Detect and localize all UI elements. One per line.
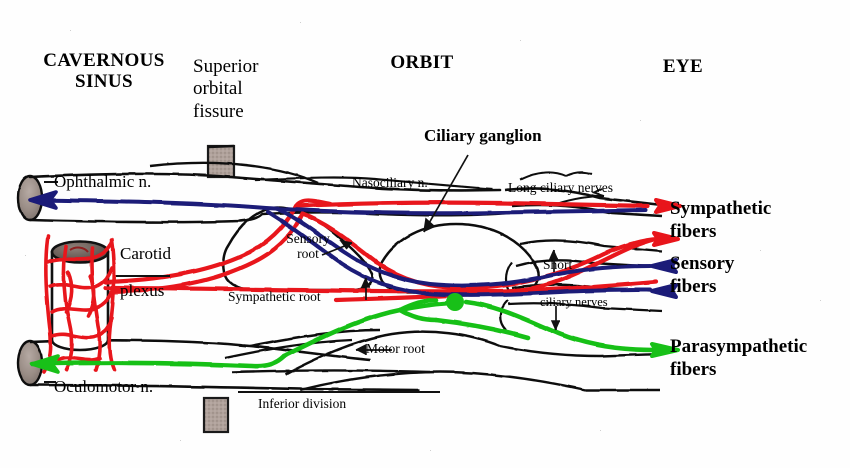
ciliary-ganglion-node	[446, 293, 464, 311]
label-inferior-division: Inferior division	[258, 396, 346, 411]
header-orbit: ORBIT	[362, 52, 482, 73]
ciliary-ganglion-outline	[380, 224, 662, 330]
label-short: Short	[543, 257, 572, 272]
label-ciliary-nerves: ciliary nerves	[540, 295, 608, 309]
superior-orbital-fissure-marker-bottom	[204, 398, 228, 432]
legend-sympathetic-fibers: Sympathetic fibers	[670, 198, 771, 244]
label-superior-orbital-fissure: Superior orbital fissure	[193, 56, 303, 123]
label-carotid-plexus: plexus	[120, 281, 164, 300]
header-eye: EYE	[638, 56, 728, 77]
diagram-canvas: CAVERNOUS SINUS ORBIT EYE Superior orbit…	[0, 0, 850, 468]
header-cavernous-sinus: CAVERNOUS SINUS	[14, 50, 194, 93]
label-oculomotor-nerve: Oculomotor n.	[54, 377, 153, 396]
legend-parasympathetic-fibers: Parasympathetic fibers	[670, 336, 807, 382]
label-motor-root: Motor root	[366, 341, 425, 356]
superior-orbital-fissure-marker-top	[208, 146, 234, 177]
label-carotid: Carotid	[120, 244, 171, 263]
label-ophthalmic-nerve: Ophthalmic n.	[54, 172, 151, 191]
label-nasociliary-nerve: Nasociliary n.	[352, 175, 428, 190]
label-long-ciliary-nerves: Long ciliary nerves	[508, 180, 613, 195]
label-sympathetic-root: Sympathetic root	[228, 289, 321, 304]
legend-sensory-fibers: Sensory fibers	[670, 253, 734, 299]
label-sensory-root: Sensory root	[275, 231, 341, 261]
label-ciliary-ganglion: Ciliary ganglion	[424, 126, 542, 145]
